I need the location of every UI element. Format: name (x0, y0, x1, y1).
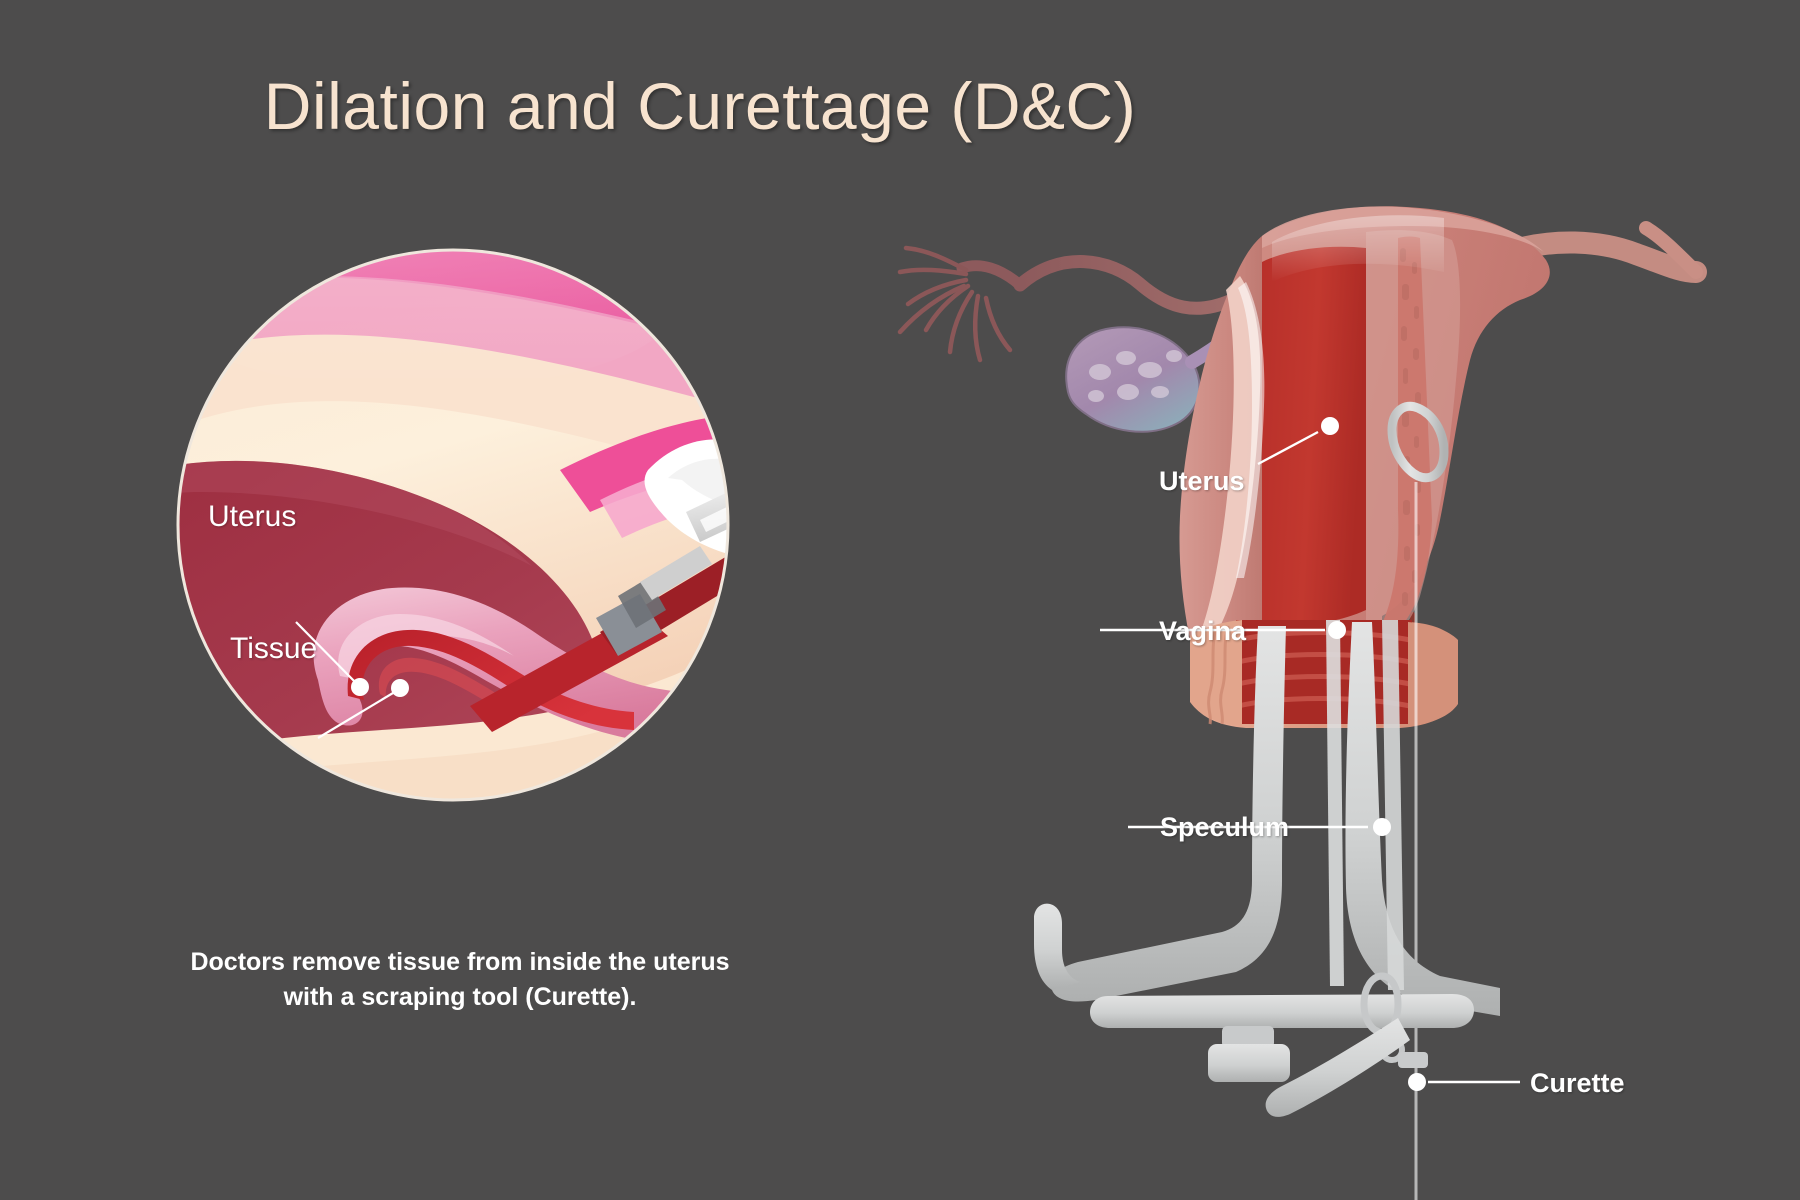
anatomy-label-vagina: Vagina (1159, 616, 1246, 647)
fallopian-tube (1020, 262, 1232, 309)
anatomy-illustration (0, 0, 1800, 1200)
speculum-crossbar (1090, 994, 1474, 1028)
leader-dot-uterus (1321, 417, 1339, 435)
illustration-canvas: Dilation and Curettage (D&C) (0, 0, 1800, 1200)
leader-dot-speculum (1373, 818, 1391, 836)
anatomy-label-speculum: Speculum (1160, 812, 1289, 843)
leader-dot-curette (1408, 1073, 1426, 1091)
anatomy-label-uterus: Uterus (1159, 466, 1245, 497)
leader-dot-vagina (1328, 621, 1346, 639)
ovary (1066, 327, 1199, 431)
tube-fimbrial-end (962, 266, 1020, 285)
anatomy-label-curette: Curette (1530, 1068, 1625, 1099)
uterine-cavity (1262, 247, 1366, 627)
speculum-lever-tab (1398, 1052, 1428, 1068)
speculum-thumbscrew (1208, 1044, 1290, 1082)
